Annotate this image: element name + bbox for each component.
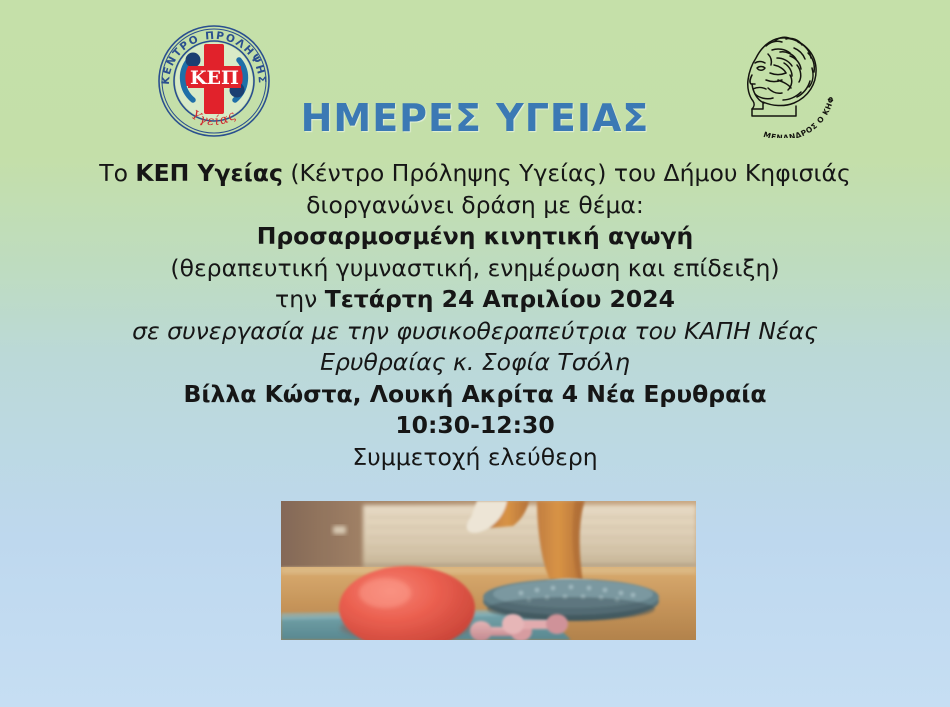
text-line-1: Το ΚΕΠ Υγείας (Κέντρο Πρόληψης Υγείας) τ… bbox=[60, 158, 890, 190]
text-line-5-date: την Τετάρτη 24 Απριλίου 2024 bbox=[60, 284, 890, 316]
text-line-8-venue: Βίλλα Κώστα, Λουκή Ακρίτα 4 Νέα Ερυθραία bbox=[60, 379, 890, 411]
text-line-2: διοργανώνει δράση με θέμα: bbox=[60, 190, 890, 222]
line1-part-c: (Κέντρο Πρόληψης Υγείας) του Δήμου Κηφισ… bbox=[283, 159, 851, 187]
announcement-text-block: Το ΚΕΠ Υγείας (Κέντρο Πρόληψης Υγείας) τ… bbox=[60, 158, 890, 473]
text-line-10-participation: Συμμετοχή ελεύθερη bbox=[60, 442, 890, 474]
text-line-7: Ερυθραίας κ. Σοφία Τσόλη bbox=[60, 347, 890, 379]
page-title: ΗΜΕΡΕΣ ΥΓΕΙΑΣ bbox=[0, 96, 950, 140]
poster-canvas: ΚΕΝΤΡΟ ΠΡΟΛΗΨΗΣ Υγείας ΚΕΠ bbox=[0, 0, 950, 707]
line1-kep-ygeias: ΚΕΠ Υγείας bbox=[135, 159, 282, 187]
text-line-3-topic: Προσαρμοσμένη κινητική αγωγή bbox=[60, 221, 890, 253]
line1-part-a: Το bbox=[99, 159, 135, 187]
line5-part-a: την bbox=[275, 285, 325, 313]
line5-date-value: Τετάρτη 24 Απριλίου 2024 bbox=[325, 285, 675, 313]
swoosh-dot-left bbox=[186, 53, 201, 68]
text-line-4-subtitle: (θεραπευτική γυμναστική, ενημέρωση και ε… bbox=[60, 253, 890, 285]
kep-center-text: ΚΕΠ bbox=[190, 67, 239, 89]
physiotherapy-exercise-photo bbox=[281, 501, 696, 640]
text-line-6: σε συνεργασία με την φυσικοθεραπεύτρια τ… bbox=[60, 316, 890, 348]
text-line-9-time: 10:30-12:30 bbox=[60, 410, 890, 442]
